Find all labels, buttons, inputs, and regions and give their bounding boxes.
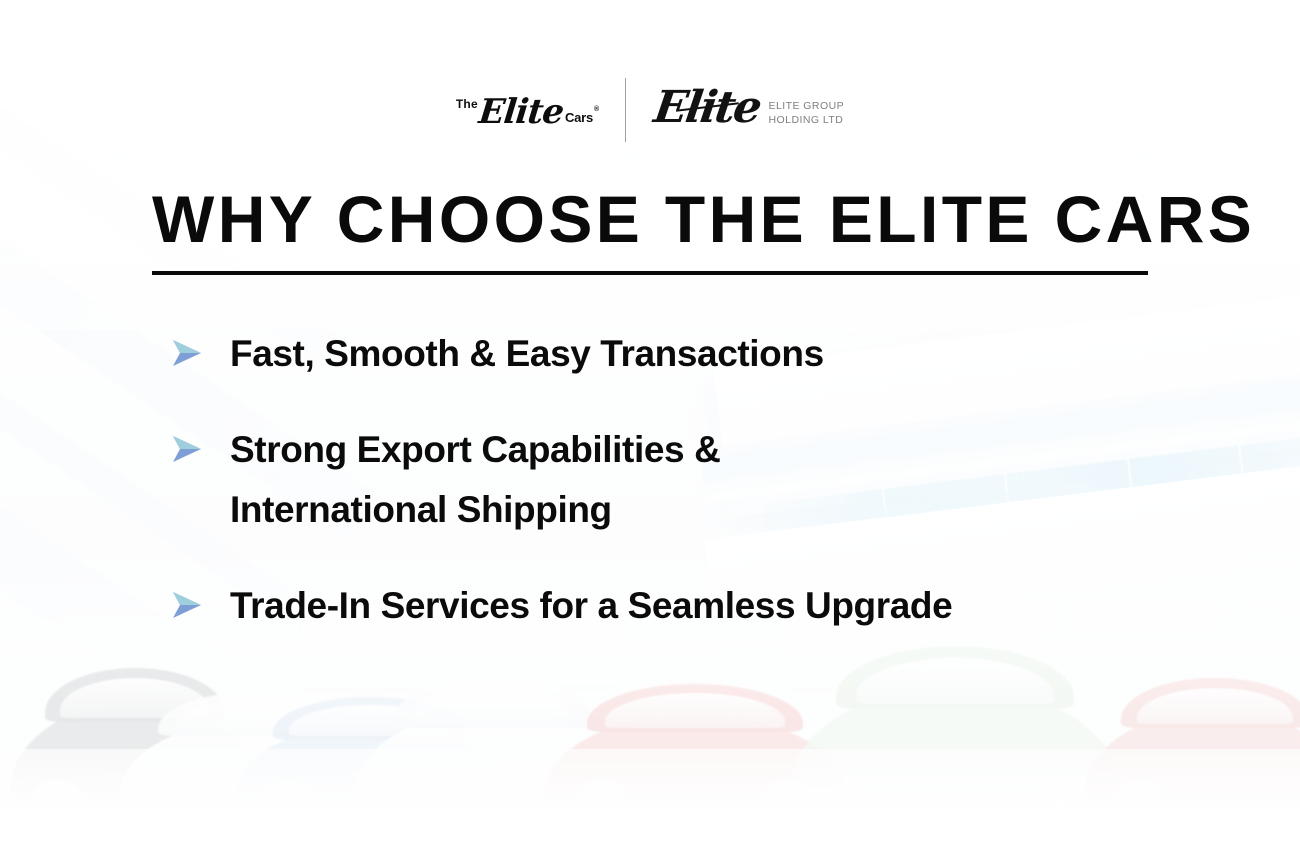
- heading-block: WHY CHOOSE THE ELITE CARS: [152, 186, 1148, 275]
- list-item-label: Trade-In Services for a Seamless Upgrade: [230, 576, 952, 636]
- logo-divider: [625, 78, 626, 142]
- registered-trademark-icon: ®: [594, 106, 599, 113]
- page-title: WHY CHOOSE THE ELITE CARS: [152, 186, 1148, 253]
- logo-elite-signature-mark: Elite: [651, 86, 762, 130]
- arrow-right-icon: [170, 432, 204, 466]
- logo-the-text: The: [456, 98, 478, 110]
- logo-elite-group-name: ELITE GROUP HOLDING LTD: [769, 100, 845, 128]
- list-item: Fast, Smooth & Easy Transactions: [170, 324, 1170, 384]
- slide-content: The Elite Cars ® Elite ELITE GROUP HOLDI…: [0, 0, 1300, 867]
- list-item: Trade-In Services for a Seamless Upgrade: [170, 576, 1170, 636]
- logo-elite-group-holding: Elite ELITE GROUP HOLDING LTD: [654, 88, 844, 132]
- list-item-label: Strong Export Capabilities & Internation…: [230, 420, 930, 540]
- benefits-list: Fast, Smooth & Easy Transactions Strong …: [170, 324, 1170, 636]
- slide-root: The Elite Cars ® Elite ELITE GROUP HOLDI…: [0, 0, 1300, 867]
- logo-bar: The Elite Cars ® Elite ELITE GROUP HOLDI…: [0, 74, 1300, 146]
- logo-cars-text: Cars: [565, 111, 593, 124]
- logo-the-elite-cars: The Elite Cars ®: [456, 93, 625, 127]
- list-item-label: Fast, Smooth & Easy Transactions: [230, 324, 824, 384]
- title-underline-rule: [152, 271, 1148, 275]
- list-item: Strong Export Capabilities & Internation…: [170, 420, 1170, 540]
- logo-elite-script: Elite: [477, 95, 565, 129]
- arrow-right-icon: [170, 588, 204, 622]
- arrow-right-icon: [170, 336, 204, 370]
